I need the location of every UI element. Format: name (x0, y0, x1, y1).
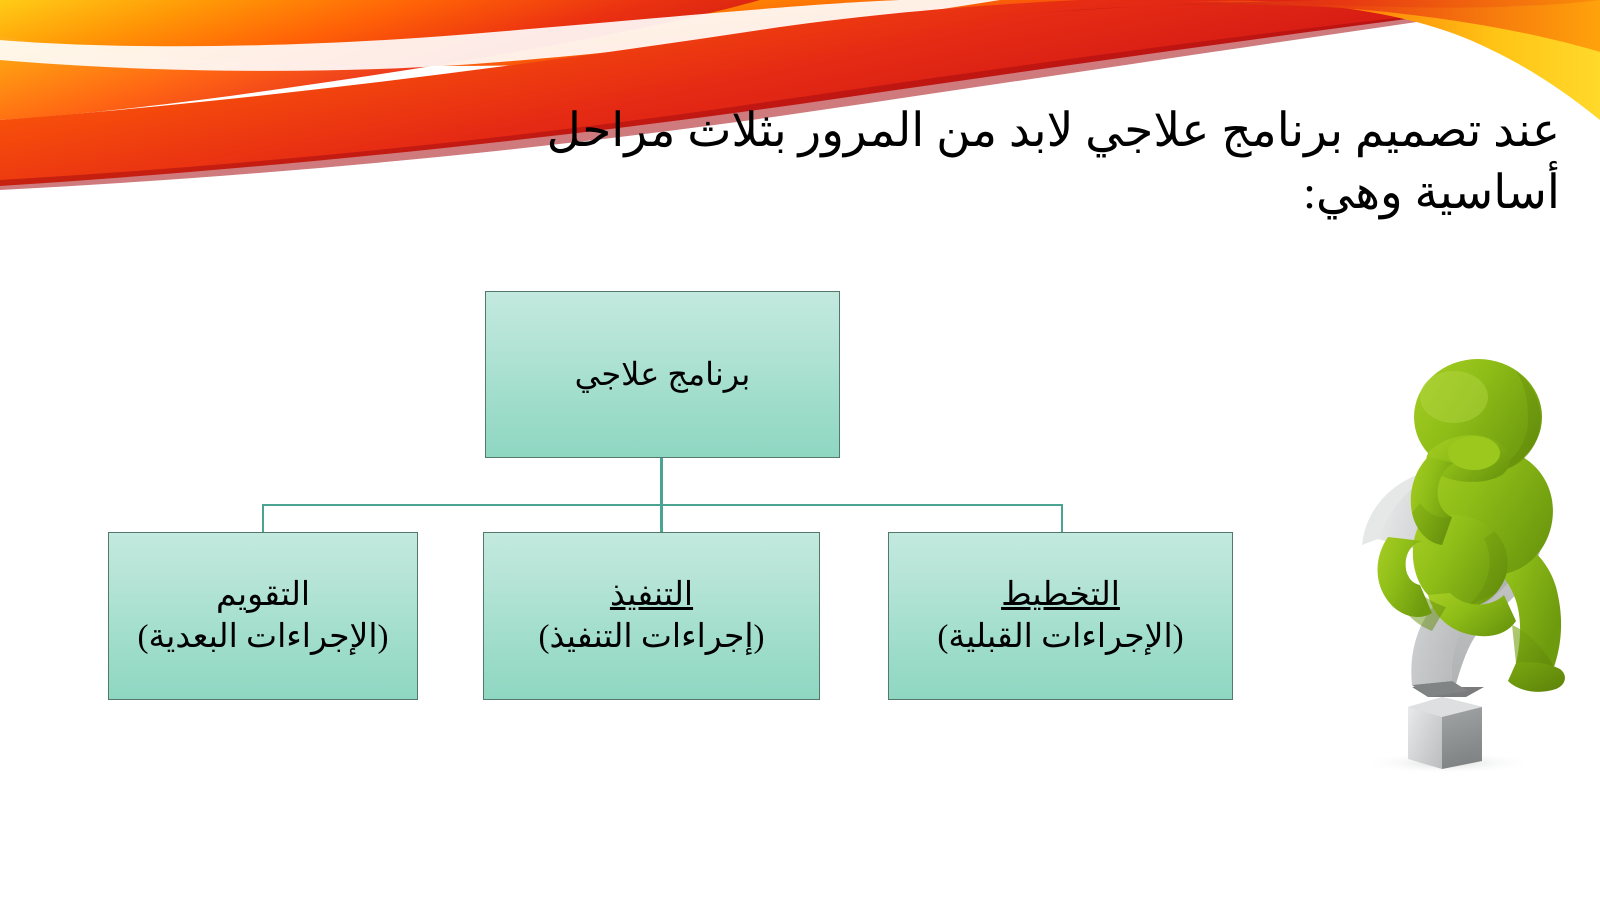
connector-root-stem (660, 458, 663, 506)
org-chart: برنامج علاجي التقويم (الإجراءات البعدية)… (0, 0, 1600, 900)
connector-drop-middle (660, 504, 663, 534)
connector-drop-right (1061, 504, 1063, 534)
connector-drop-left (262, 504, 264, 534)
org-node-evaluation-line2: (الإجراءات البعدية) (137, 616, 388, 658)
org-node-implementation-line2: (إجراءات التنفيذ) (538, 616, 764, 658)
org-node-root-line1: برنامج علاجي (575, 354, 751, 395)
org-node-evaluation-line1: التقويم (216, 574, 310, 616)
slide-canvas: عند تصميم برنامج علاجي لابد من المرور بث… (0, 0, 1600, 900)
org-node-root[interactable]: برنامج علاجي (485, 291, 840, 458)
org-node-evaluation[interactable]: التقويم (الإجراءات البعدية) (108, 532, 418, 700)
org-node-planning[interactable]: التخطيط (الإجراءات القبلية) (888, 532, 1233, 700)
org-node-planning-line1: التخطيط (1001, 574, 1120, 616)
org-node-planning-line2: (الإجراءات القبلية) (937, 616, 1183, 658)
org-node-implementation[interactable]: التنفيذ (إجراءات التنفيذ) (483, 532, 820, 700)
org-node-implementation-line1: التنفيذ (610, 574, 693, 616)
